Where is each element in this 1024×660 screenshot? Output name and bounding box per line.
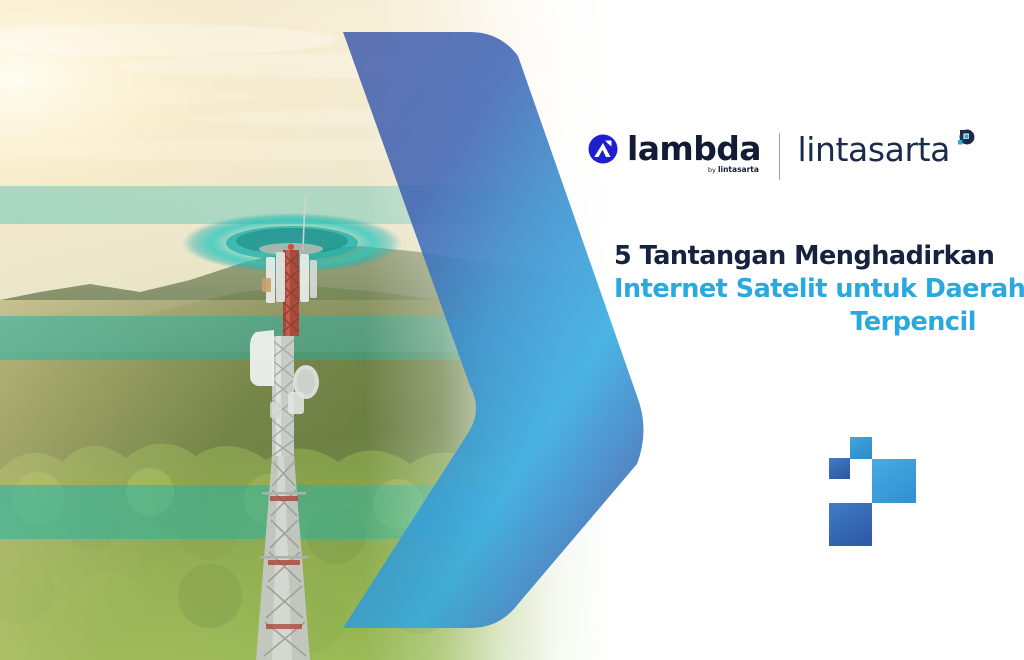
lintasarta-logo[interactable]: lintasarta [797, 132, 976, 168]
lambda-byline-name: lintasarta [718, 165, 759, 174]
brand-logo-lockup[interactable]: lambda by lintasarta lintasarta [588, 132, 976, 184]
headline-line-1: 5 Tantangan Menghadirkan [614, 240, 976, 273]
lintasarta-mark-icon [948, 126, 976, 154]
headline-line-2: Internet Satelit untuk Daerah [614, 273, 976, 306]
signal-band-top [0, 186, 700, 224]
logo-divider [779, 133, 781, 180]
headline-line-3: Terpencil [614, 306, 976, 339]
promo-banner: lambda by lintasarta lintasarta [0, 0, 1024, 660]
deco-square-top [850, 437, 872, 459]
lintasarta-mark-square-sm [958, 140, 963, 145]
content-panel: lambda by lintasarta lintasarta [600, 0, 1024, 660]
deco-square-large [872, 459, 916, 503]
lintasarta-wordmark: lintasarta [797, 132, 950, 168]
signal-band-low [0, 485, 700, 539]
deco-square-left [829, 458, 850, 479]
lambda-logo[interactable]: lambda by lintasarta [588, 132, 779, 166]
decorative-squares [822, 437, 926, 549]
signal-band-mid [0, 316, 700, 360]
deco-square-bottom [829, 503, 872, 546]
lambda-byline: by lintasarta [708, 165, 759, 174]
background-photo [0, 0, 700, 660]
headline-block: 5 Tantangan Menghadirkan Internet Sateli… [614, 240, 976, 339]
lintasarta-mark-square-xs [963, 140, 966, 143]
lambda-wordmark: lambda [627, 129, 761, 168]
lintasarta-mark-square-lg [965, 135, 969, 139]
lambda-byline-by: by [708, 166, 718, 174]
lambda-mark-icon [588, 134, 618, 164]
photo-illustration [0, 0, 700, 660]
